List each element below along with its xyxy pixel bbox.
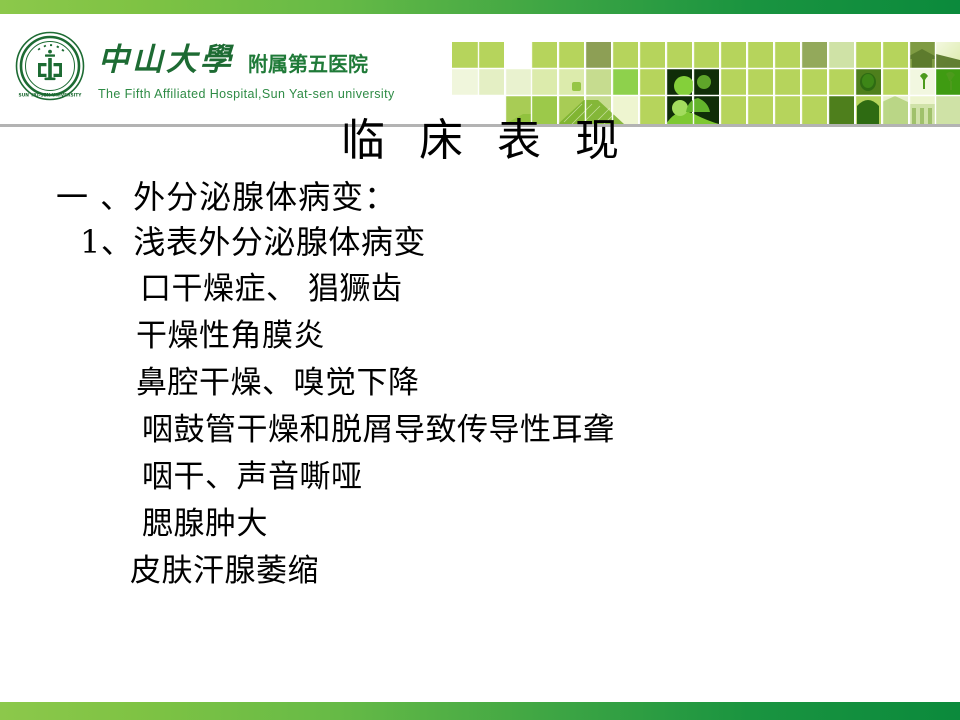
page-title: 临 床 表 现 [0, 117, 960, 165]
body-line-subheading: 1、浅表外分泌腺体病变 [0, 218, 960, 266]
svg-text:SUN YAT-SEN UNIVERSITY: SUN YAT-SEN UNIVERSITY [19, 92, 83, 98]
campus-photo-mosaic [452, 42, 960, 124]
body-line-item: 口干燥症、 猖獗齿 [0, 266, 960, 313]
slide-header: SUN YAT-SEN UNIVERSITY 中山大學 附属第五医院 The F… [0, 14, 960, 111]
slide-body: 一 、外分泌腺体病变： 1、浅表外分泌腺体病变 口干燥症、 猖獗齿 干燥性角膜炎… [0, 176, 960, 595]
body-line-item: 鼻腔干燥、嗅觉下降 [0, 360, 960, 407]
body-line-item: 腮腺肿大 [0, 501, 960, 548]
slide-canvas: SUN YAT-SEN UNIVERSITY 中山大學 附属第五医院 The F… [0, 0, 960, 720]
brand-university-name-cn: 中山大學 [98, 45, 234, 76]
body-line-item: 咽干、声音嘶哑 [0, 454, 960, 501]
body-line-item: 咽鼓管干燥和脱屑导致传导性耳聋 [0, 407, 960, 454]
bottom-gradient-bar [0, 702, 960, 720]
body-line-item: 皮肤汗腺萎缩 [0, 548, 960, 595]
body-line-heading: 一 、外分泌腺体病变： [0, 176, 960, 218]
sun-yat-sen-university-seal-icon: SUN YAT-SEN UNIVERSITY [14, 30, 86, 102]
top-gradient-bar [0, 0, 960, 14]
brand-hospital-name-cn: 附属第五医院 [248, 54, 368, 76]
brand-block: 中山大學 附属第五医院 The Fifth Affiliated Hospita… [98, 34, 428, 101]
body-line-item: 干燥性角膜炎 [0, 313, 960, 360]
brand-hospital-name-en: The Fifth Affiliated Hospital,Sun Yat-se… [98, 87, 428, 101]
